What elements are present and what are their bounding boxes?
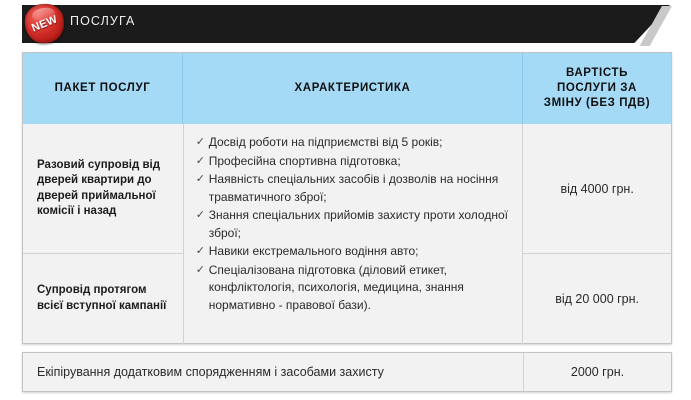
header-characteristic: ХАРАКТЕРИСТИКА [183,53,523,124]
header-price-line-3: ЗМІНУ (БЕЗ ПДВ) [544,96,650,111]
header-package: ПАКЕТ ПОСЛУГ [23,53,183,124]
package-column: Разовий супровід від дверей квартири до … [23,124,183,344]
extra-service-row: Екіпірування додатковим спорядженням і з… [22,352,672,392]
list-item-label: Знання спеціальних прийомів захисту прот… [209,207,513,242]
check-icon: ✓ [196,171,209,189]
service-ribbon: NEW ПОСЛУГА [0,0,691,48]
check-icon: ✓ [196,243,209,261]
table-body: Разовий супровід від дверей квартири до … [23,124,671,344]
new-badge-icon: NEW [25,4,64,43]
table-row: Екіпірування додатковим спорядженням і з… [23,353,671,391]
list-item: ✓ Навики екстремального водіння авто; [196,243,513,261]
list-item-label: Наявність спеціальних засобів і дозволів… [209,171,513,206]
list-item-label: Навики екстремального водіння авто; [209,243,513,261]
list-item-label: Спеціалізована підготовка (діловий етике… [209,262,513,315]
check-icon: ✓ [196,262,209,280]
characteristic-column: ✓ Досвід роботи на підприємстві від 5 ро… [184,124,523,344]
extra-row-label: Екіпірування додатковим спорядженням і з… [23,353,524,391]
table-row-price-2: від 20 000 грн. [523,254,671,343]
list-item: ✓ Спеціалізована підготовка (діловий ети… [196,262,513,315]
check-icon: ✓ [196,153,209,171]
table-row-package-2: Супровід протягом всієї вступної кампані… [23,254,183,343]
check-icon: ✓ [196,134,209,152]
list-item: ✓ Знання спеціальних прийомів захисту пр… [196,207,513,242]
header-price-line-1: ВАРТІСТЬ [544,66,650,81]
check-icon: ✓ [196,207,209,225]
table-header-row: ПАКЕТ ПОСЛУГ ХАРАКТЕРИСТИКА ВАРТІСТЬ ПОС… [23,53,671,124]
ribbon-title: ПОСЛУГА [70,14,135,28]
list-item-label: Професійна спортивна підготовка; [209,153,513,171]
list-item: ✓ Досвід роботи на підприємстві від 5 ро… [196,134,513,152]
table-row-price-1: від 4000 грн. [523,124,671,254]
price-column: від 4000 грн. від 20 000 грн. [523,124,671,344]
header-price-line-2: ПОСЛУГИ ЗА [544,81,650,96]
list-item: ✓ Наявність спеціальних засобів і дозвол… [196,171,513,206]
list-item-label: Досвід роботи на підприємстві від 5 рокі… [209,134,513,152]
extra-row-price: 2000 грн. [524,353,671,391]
pricing-table: ПАКЕТ ПОСЛУГ ХАРАКТЕРИСТИКА ВАРТІСТЬ ПОС… [22,52,672,344]
list-item: ✓ Професійна спортивна підготовка; [196,153,513,171]
table-row-package-1: Разовий супровід від дверей квартири до … [23,124,183,254]
badge-label: NEW [19,0,70,49]
header-price: ВАРТІСТЬ ПОСЛУГИ ЗА ЗМІНУ (БЕЗ ПДВ) [523,53,671,124]
